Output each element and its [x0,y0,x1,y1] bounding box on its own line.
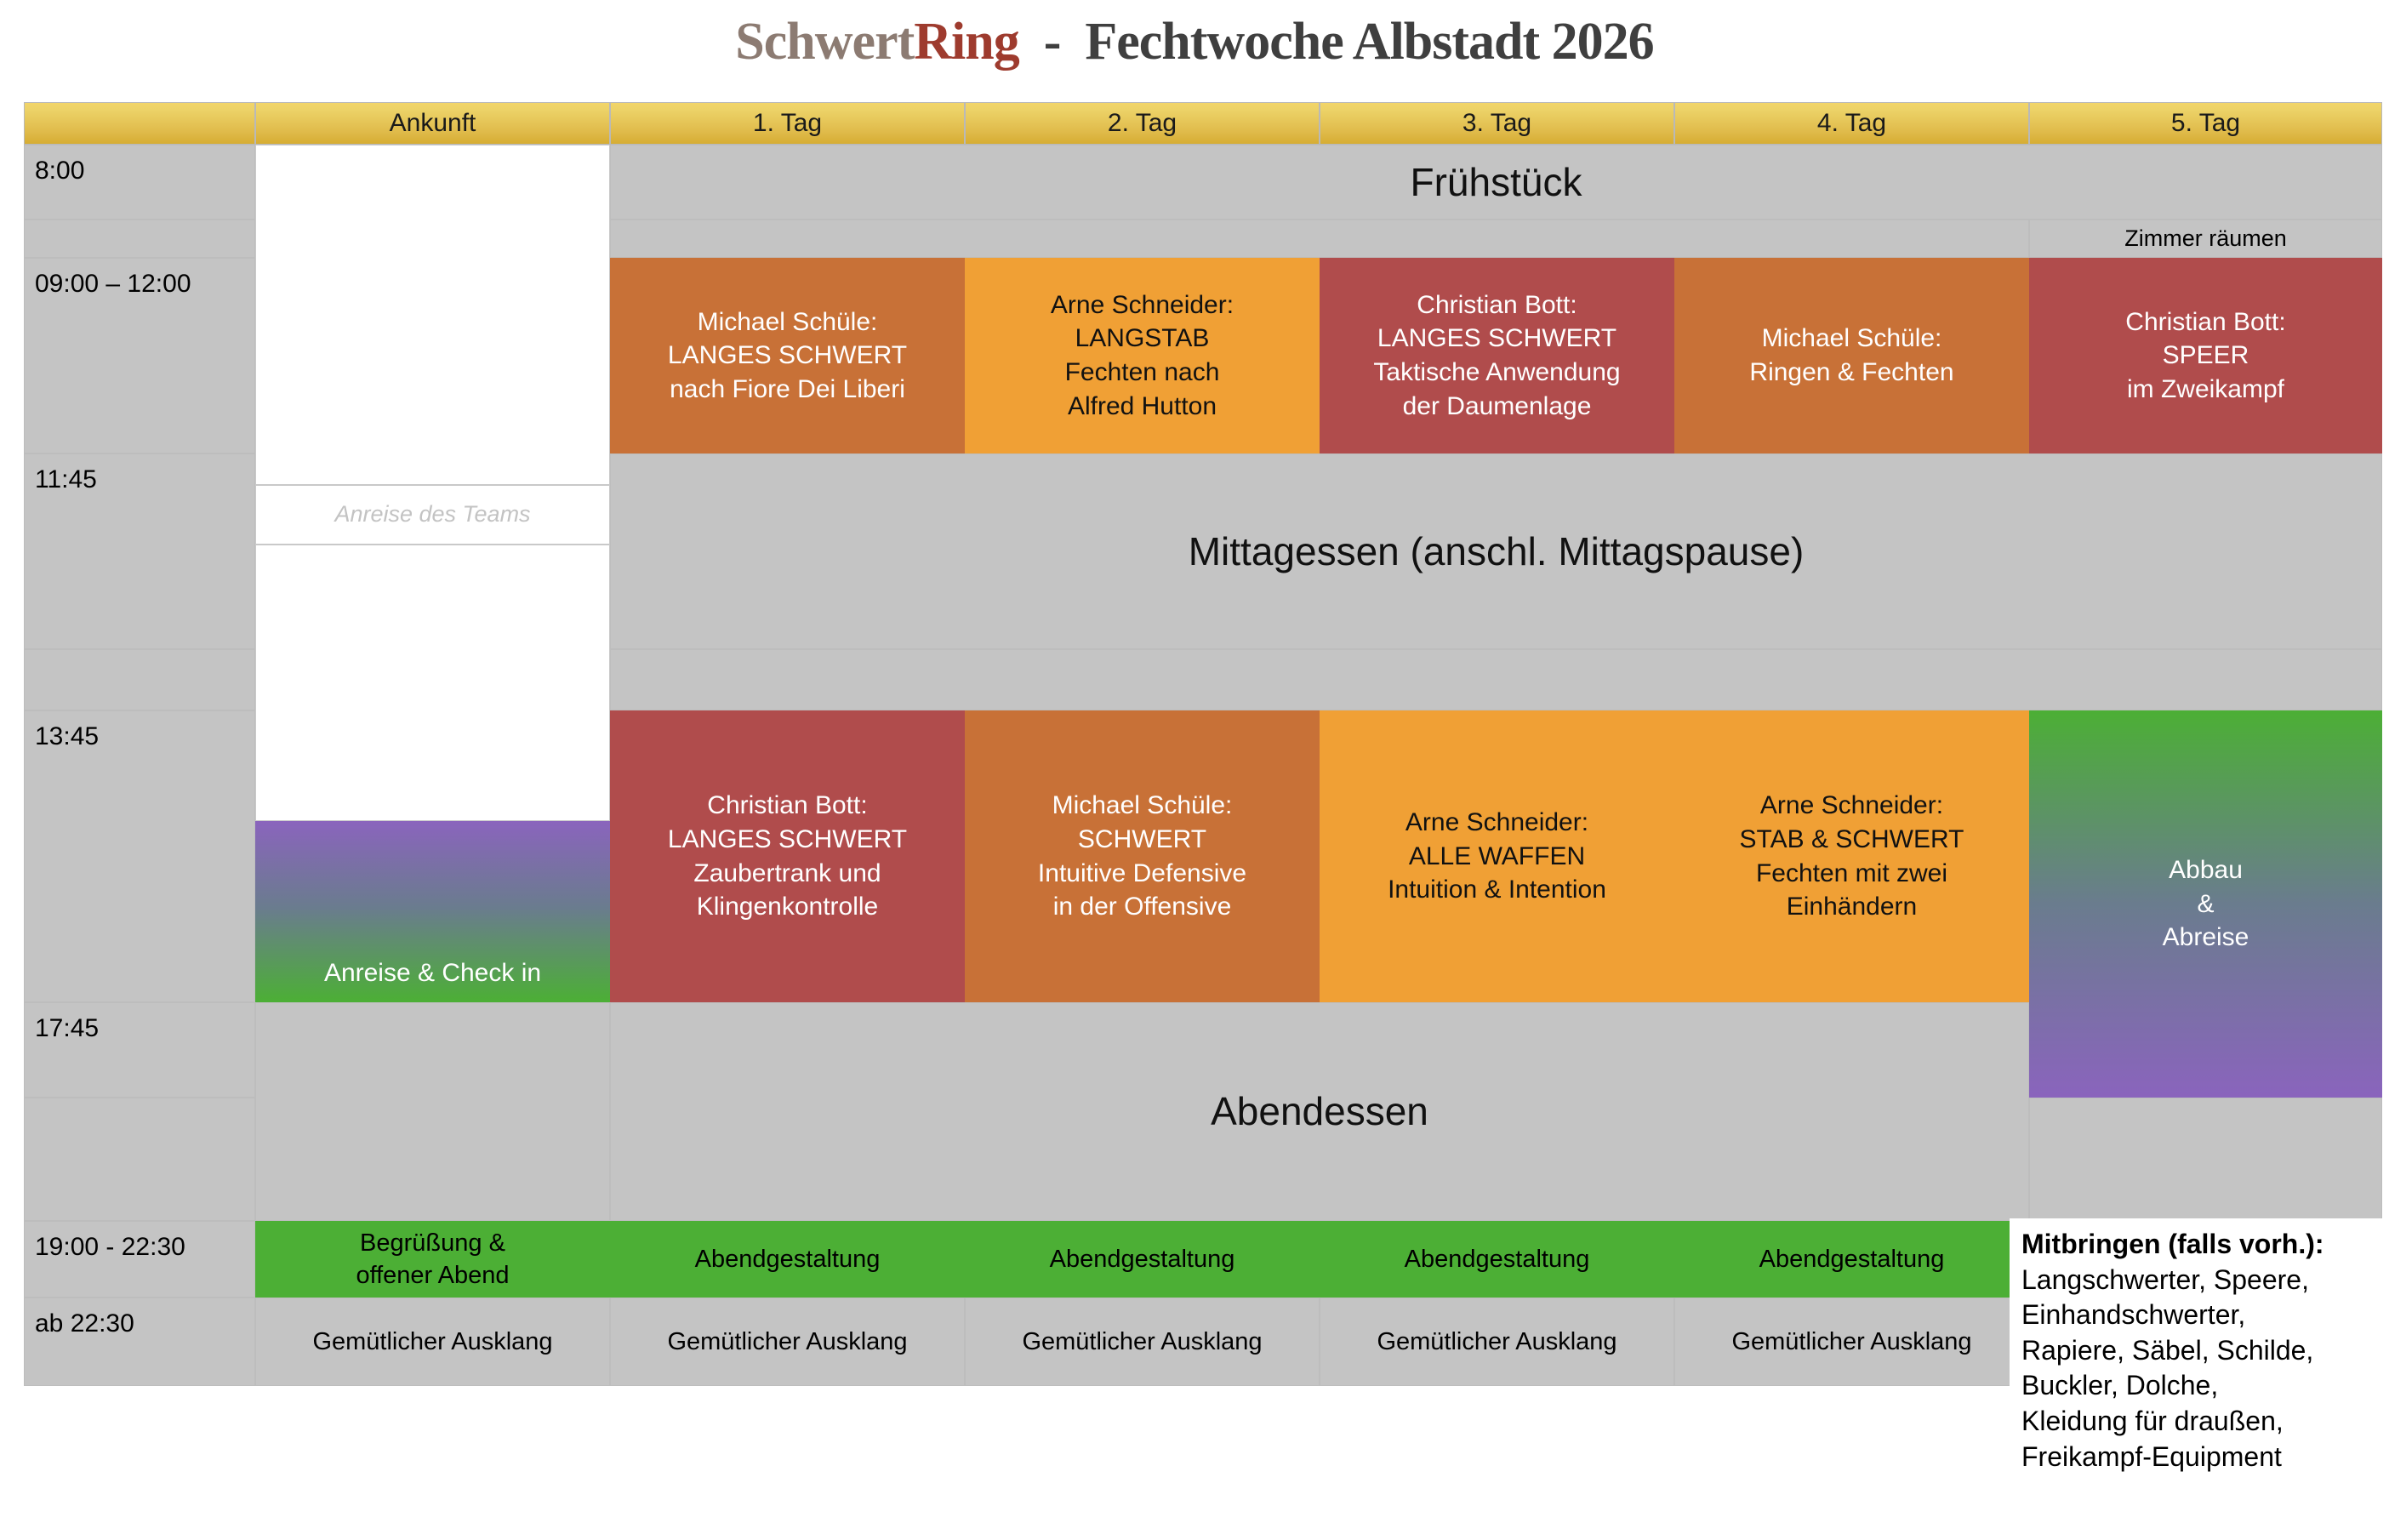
time-1345: 13:45 [24,710,255,1002]
time-1745: 17:45 [24,1002,255,1098]
brand-schwert: Schwert [735,13,914,71]
room-clear-cell: Zimmer räumen [2029,220,2382,258]
time-0800: 8:00 [24,145,255,220]
mitbringen-line-2: Rapiere, Säbel, Schilde, [2021,1333,2370,1369]
evening-tag-4: Abendgestaltung [1674,1221,2029,1298]
session-morning-2: Arne Schneider:LANGSTABFechten nachAlfre… [965,258,1320,453]
session-morning-2-text: Arne Schneider:LANGSTABFechten nachAlfre… [1051,288,1234,423]
session-morning-3-text: Christian Bott:LANGES SCHWERTTaktische A… [1373,288,1620,423]
header-tag-4: 4. Tag [1674,102,2029,145]
session-afternoon-4-text: Arne Schneider:STAB & SCHWERTFechten mit… [1740,789,1964,923]
breakfast-band: Frühstück [610,145,2382,220]
time-ab-2230: ab 22:30 [24,1298,255,1386]
late-tag-4: Gemütlicher Ausklang [1674,1298,2029,1386]
late-tag-1: Gemütlicher Ausklang [610,1298,965,1386]
mitbringen-heading: Mitbringen (falls vorh.): [2021,1229,2324,1259]
header-corner [24,102,255,145]
ankunft-checkin-label: Anreise & Check in [324,956,541,990]
session-afternoon-3-text: Arne Schneider:ALLE WAFFENIntuition & In… [1388,806,1606,907]
title-separator: - [1019,13,1086,71]
session-morning-1: Michael Schüle:LANGES SCHWERTnach Fiore … [610,258,965,453]
session-afternoon-1-text: Christian Bott:LANGES SCHWERTZaubertrank… [668,789,907,923]
event-title: Fechtwoche Albstadt 2026 [1085,13,1653,71]
time-spacer-2 [24,649,255,710]
time-0900-1200: 09:00 – 12:00 [24,258,255,453]
session-morning-4: Michael Schüle:Ringen & Fechten [1674,258,2029,453]
ankunft-blank-mid [255,545,610,821]
header-ankunft: Ankunft [255,102,610,145]
session-morning-5-text: Christian Bott:SPEERim Zweikampf [2125,305,2285,407]
ankunft-welcome-label: Begrüßung &offener Abend [356,1227,509,1292]
ankunft-checkin: Anreise & Check in [255,821,610,1002]
header-tag-1: 1. Tag [610,102,965,145]
mitbringen-line-0: Langschwerter, Speere, [2021,1263,2370,1298]
evening-tag-3: Abendgestaltung [1320,1221,1674,1298]
header-tag-2: 2. Tag [965,102,1320,145]
dinner-band: Abendessen [610,1002,2029,1221]
session-morning-5: Christian Bott:SPEERim Zweikampf [2029,258,2382,453]
lunch-band: Mittagessen (anschl. Mittagspause) [610,453,2382,649]
session-afternoon-3: Arne Schneider:ALLE WAFFENIntuition & In… [1320,710,1674,1002]
ankunft-blank-top [255,145,610,485]
schedule-grid: Ankunft 1. Tag 2. Tag 3. Tag 4. Tag 5. T… [24,102,2382,1540]
brand-ring: Ring [914,13,1018,71]
session-morning-1-text: Michael Schüle:LANGES SCHWERTnach Fiore … [668,305,907,407]
breakfast-spacer [610,220,2029,258]
header-tag-5: 5. Tag [2029,102,2382,145]
ankunft-welcome: Begrüßung &offener Abend [255,1221,610,1298]
session-morning-4-text: Michael Schüle:Ringen & Fechten [1749,322,1953,389]
evening-tag-2: Abendgestaltung [965,1221,1320,1298]
session-afternoon-4: Arne Schneider:STAB & SCHWERTFechten mit… [1674,710,2029,1002]
schedule-poster: SchwertRing - Fechtwoche Albstadt 2026 A… [0,0,2389,1540]
dinner-spacer-day5 [2029,1098,2382,1221]
departure-text: Abbau&Abreise [2163,853,2249,955]
mitbringen-box: Mitbringen (falls vorh.): Langschwerter,… [2010,1218,2382,1540]
page-title: SchwertRing - Fechtwoche Albstadt 2026 [0,12,2389,72]
late-tag-2: Gemütlicher Ausklang [965,1298,1320,1386]
time-1145: 11:45 [24,453,255,649]
team-arrival-note: Anreise des Teams [255,485,610,545]
lunch-spacer [610,649,2382,710]
time-spacer-1 [24,220,255,258]
ankunft-dinner-pad [255,1002,610,1221]
mitbringen-line-3: Buckler, Dolche, [2021,1368,2370,1404]
ankunft-late: Gemütlicher Ausklang [255,1298,610,1386]
session-morning-3: Christian Bott:LANGES SCHWERTTaktische A… [1320,258,1674,453]
session-afternoon-2-text: Michael Schüle:SCHWERTIntuitive Defensiv… [1038,789,1246,923]
session-afternoon-2: Michael Schüle:SCHWERTIntuitive Defensiv… [965,710,1320,1002]
evening-tag-1: Abendgestaltung [610,1221,965,1298]
session-afternoon-5-departure: Abbau&Abreise [2029,710,2382,1098]
mitbringen-line-1: Einhandschwerter, [2021,1298,2370,1333]
mitbringen-line-5: Freikampf-Equipment [2021,1440,2370,1475]
late-tag-3: Gemütlicher Ausklang [1320,1298,1674,1386]
time-spacer-3 [24,1098,255,1221]
session-afternoon-1: Christian Bott:LANGES SCHWERTZaubertrank… [610,710,965,1002]
header-tag-3: 3. Tag [1320,102,1674,145]
mitbringen-line-4: Kleidung für draußen, [2021,1404,2370,1440]
time-1900-2230: 19:00 - 22:30 [24,1221,255,1298]
